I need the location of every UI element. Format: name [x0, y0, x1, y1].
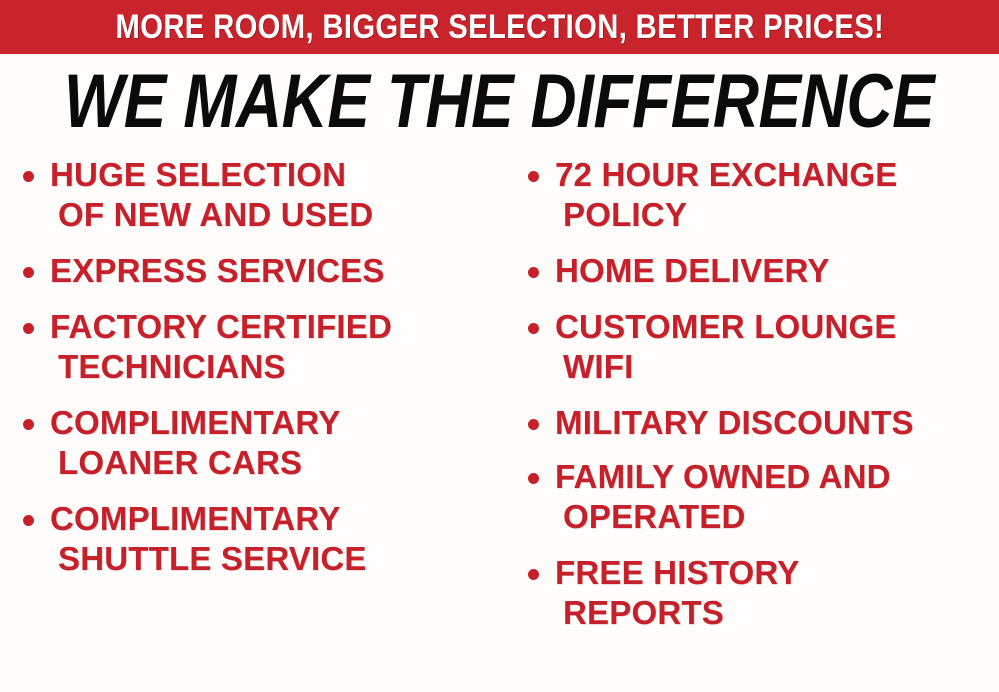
list-item-line2: POLICY	[555, 195, 997, 235]
benefits-column-left: HUGE SELECTION OF NEW AND USED EXPRESS S…	[0, 155, 505, 595]
promo-banner-text: MORE ROOM, BIGGER SELECTION, BETTER PRIC…	[115, 10, 884, 44]
list-item-line2: OF NEW AND USED	[50, 195, 501, 235]
list-item: COMPLIMENTARY SHUTTLE SERVICE	[18, 499, 501, 579]
list-item-line2: OPERATED	[555, 497, 997, 537]
benefits-list-right: 72 HOUR EXCHANGE POLICY HOME DELIVERY CU…	[523, 155, 997, 633]
list-item: EXPRESS SERVICES	[18, 251, 501, 291]
headline-text: WE MAKE THE DIFFERENCE	[64, 64, 934, 140]
list-item: MILITARY DISCOUNTS	[523, 403, 997, 443]
advertisement-banner: MORE ROOM, BIGGER SELECTION, BETTER PRIC…	[0, 0, 999, 692]
list-item-line1: COMPLIMENTARY	[50, 404, 340, 441]
list-item-line2: REPORTS	[555, 593, 997, 633]
list-item: FREE HISTORY REPORTS	[523, 553, 997, 633]
headline: WE MAKE THE DIFFERENCE	[0, 62, 999, 142]
benefits-column-right: 72 HOUR EXCHANGE POLICY HOME DELIVERY CU…	[505, 155, 999, 649]
list-item-line1: CUSTOMER LOUNGE	[555, 308, 897, 345]
list-item-line1: EXPRESS SERVICES	[50, 252, 385, 289]
list-item-line1: COMPLIMENTARY	[50, 500, 340, 537]
list-item-line1: HOME DELIVERY	[555, 252, 830, 289]
list-item-line1: FACTORY CERTIFIED	[50, 308, 392, 345]
list-item-line2: TECHNICIANS	[50, 347, 501, 387]
benefits-list-left: HUGE SELECTION OF NEW AND USED EXPRESS S…	[18, 155, 501, 579]
list-item: 72 HOUR EXCHANGE POLICY	[523, 155, 997, 235]
list-item: CUSTOMER LOUNGE WIFI	[523, 307, 997, 387]
list-item-line2: LOANER CARS	[50, 443, 501, 483]
list-item-line1: FAMILY OWNED AND	[555, 458, 891, 495]
list-item: FACTORY CERTIFIED TECHNICIANS	[18, 307, 501, 387]
list-item: FAMILY OWNED AND OPERATED	[523, 457, 997, 537]
list-item-line2: WIFI	[555, 347, 997, 387]
list-item-line1: FREE HISTORY	[555, 554, 799, 591]
list-item: HUGE SELECTION OF NEW AND USED	[18, 155, 501, 235]
promo-banner: MORE ROOM, BIGGER SELECTION, BETTER PRIC…	[0, 0, 999, 54]
list-item-line2: SHUTTLE SERVICE	[50, 539, 501, 579]
list-item: HOME DELIVERY	[523, 251, 997, 291]
list-item-line1: MILITARY DISCOUNTS	[555, 404, 914, 441]
list-item: COMPLIMENTARY LOANER CARS	[18, 403, 501, 483]
benefits-columns: HUGE SELECTION OF NEW AND USED EXPRESS S…	[0, 155, 999, 692]
list-item-line1: 72 HOUR EXCHANGE	[555, 156, 897, 193]
list-item-line1: HUGE SELECTION	[50, 156, 346, 193]
